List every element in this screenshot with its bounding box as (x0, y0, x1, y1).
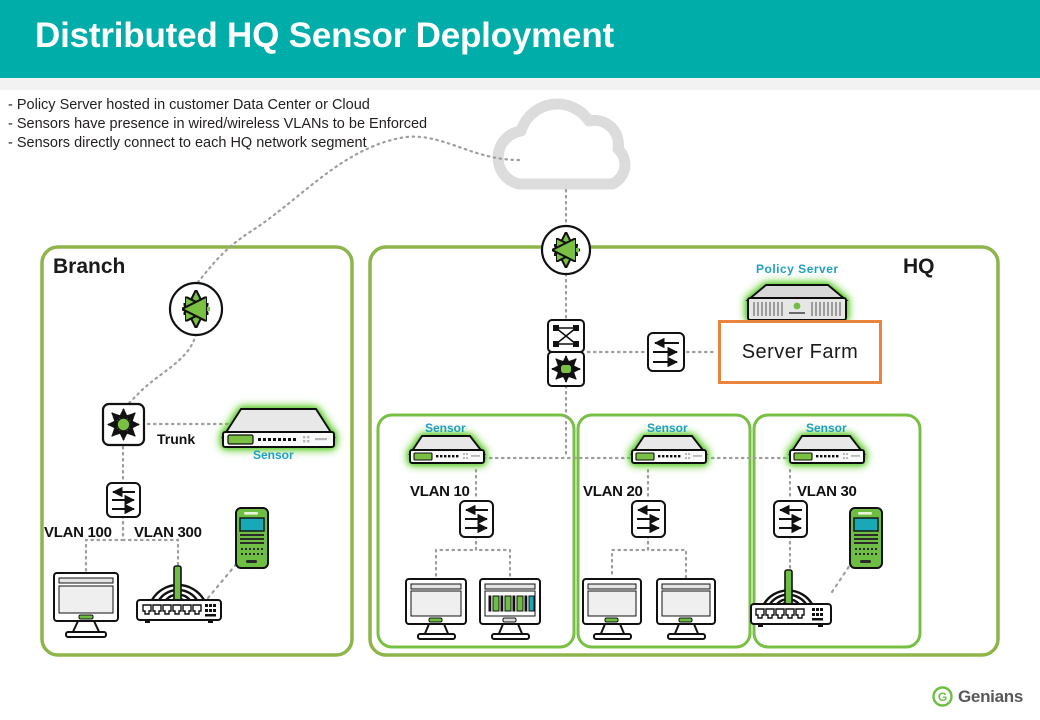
vlan10-sensor-label: Sensor (425, 421, 466, 435)
genians-g-icon: G (932, 686, 953, 707)
branch-access-switch-icon[interactable] (107, 483, 140, 517)
vlan30-label: VLAN 30 (797, 483, 857, 500)
branch-vlan100-label: VLAN 100 (44, 524, 112, 541)
server-farm-label: Server Farm (721, 323, 879, 381)
vlan20-sensor-label: Sensor (647, 421, 688, 435)
vlan10-sensor-icon[interactable] (410, 436, 484, 463)
vlan20-label: VLAN 20 (583, 483, 643, 500)
branch-router-icon[interactable] (170, 283, 222, 335)
vlan30-smartphone-icon[interactable] (850, 508, 882, 568)
branch-sensor-label: Sensor (253, 448, 294, 462)
server-farm-box: Server Farm (718, 320, 882, 384)
trunk-label: Trunk (157, 431, 195, 447)
vlan30-sensor-label: Sensor (806, 421, 847, 435)
network-topology-svg (0, 0, 1040, 720)
branch-smartphone-icon[interactable] (236, 508, 268, 568)
vlan20-sensor-icon[interactable] (632, 436, 706, 463)
brand-name: Genians (958, 687, 1023, 707)
hq-dmz-switch-icon[interactable] (648, 333, 684, 371)
vlan20-switch-icon[interactable] (632, 501, 665, 537)
hq-zone-label: HQ (903, 255, 935, 279)
vlan10-label: VLAN 10 (410, 483, 470, 500)
cloud-icon (498, 104, 625, 184)
branch-zone-label: Branch (53, 255, 125, 279)
hq-core-switch-stack-icon[interactable] (548, 320, 584, 386)
svg-text:G: G (938, 690, 947, 704)
vlan10-switch-icon[interactable] (460, 501, 493, 537)
brand-logo: G Genians (932, 686, 1023, 707)
diagram-canvas: Distributed HQ Sensor Deployment - Polic… (0, 0, 1040, 720)
vlan30-sensor-icon[interactable] (790, 436, 864, 463)
branch-sensor-icon[interactable] (223, 409, 334, 447)
policy-server-icon[interactable] (748, 285, 846, 320)
branch-trunk-switch-icon[interactable] (103, 404, 144, 445)
policy-server-label: Policy Server (756, 262, 839, 276)
branch-vlan300-label: VLAN 300 (134, 524, 202, 541)
vlan30-switch-icon[interactable] (774, 501, 807, 537)
hq-router-icon[interactable] (542, 226, 590, 274)
